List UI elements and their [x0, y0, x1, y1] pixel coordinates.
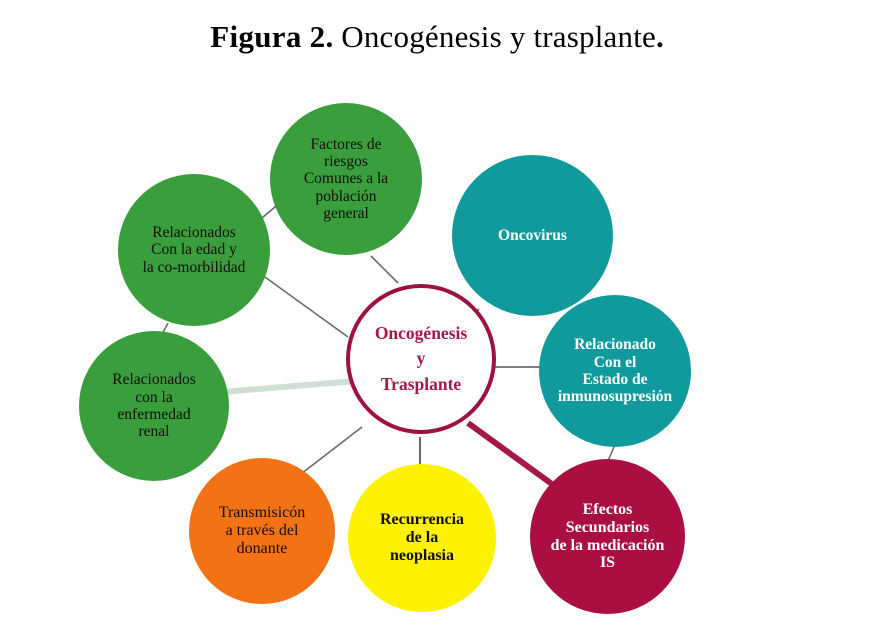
connector-riesgos-to-center	[371, 256, 398, 283]
node-oncovirus[interactable]: Oncovirus	[452, 155, 613, 316]
node-recurrencia-neoplasia[interactable]: Recurrencia de la neoplasia	[348, 464, 496, 612]
figure-page: Figura 2. Oncogénesis y trasplante. Fact…	[0, 0, 874, 637]
page-title: Figura 2. Oncogénesis y trasplante.	[0, 18, 874, 56]
connector-transmision-to-center	[297, 427, 362, 477]
connector-renal-to-center	[222, 381, 356, 392]
node-estado-inmunosupresion-label: Relacionado Con el Estado de inmunosupre…	[539, 336, 691, 405]
node-recurrencia-neoplasia-label: Recurrencia de la neoplasia	[348, 511, 496, 565]
connector-center-to-efectos	[468, 423, 556, 487]
node-oncogenesis-trasplante-label: Oncogénesis y Trasplante	[350, 321, 492, 397]
figure-label: Figura 2.	[210, 19, 333, 54]
node-oncovirus-label: Oncovirus	[452, 227, 613, 244]
node-estado-inmunosupresion[interactable]: Relacionado Con el Estado de inmunosupre…	[539, 295, 691, 447]
node-oncogenesis-trasplante[interactable]: Oncogénesis y Trasplante	[346, 284, 496, 434]
node-efectos-secundarios[interactable]: Efectos Secundarios de la medicación IS	[530, 459, 685, 614]
node-enfermedad-renal-label: Relacionados con la enfermedad renal	[79, 371, 229, 440]
figure-caption: Oncogénesis y trasplante	[341, 19, 656, 54]
node-factores-riesgos[interactable]: Factores de riesgos Comunes a la poblaci…	[270, 103, 422, 255]
node-factores-riesgos-label: Factores de riesgos Comunes a la poblaci…	[270, 136, 422, 223]
connector-edad-to-center	[258, 272, 348, 337]
concept-map: Factores de riesgos Comunes a la poblaci…	[0, 78, 874, 637]
node-edad-comorbilidad[interactable]: Relacionados Con la edad y la co-morbili…	[118, 174, 270, 326]
node-transmision-donante[interactable]: Transmisicón a través del donante	[189, 458, 335, 604]
node-edad-comorbilidad-label: Relacionados Con la edad y la co-morbili…	[118, 224, 270, 276]
node-enfermedad-renal[interactable]: Relacionados con la enfermedad renal	[79, 331, 229, 481]
node-transmision-donante-label: Transmisicón a través del donante	[189, 504, 335, 558]
node-efectos-secundarios-label: Efectos Secundarios de la medicación IS	[530, 501, 685, 573]
figure-caption-period: .	[656, 19, 664, 54]
